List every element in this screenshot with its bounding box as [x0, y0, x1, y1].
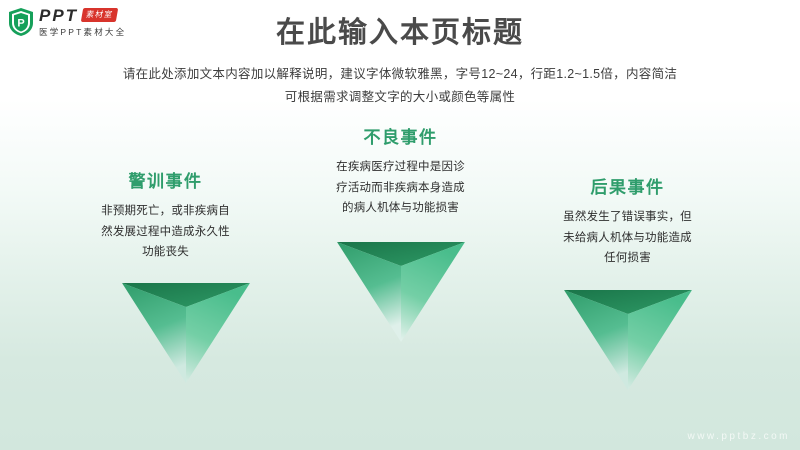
- column-1-body-line-3: 功能丧失: [58, 242, 273, 262]
- content-column-3: 后果事件 虽然发生了错误事实，但 未给病人机体与功能造成 任何损害: [520, 178, 735, 268]
- column-2-body-line-1: 在疾病医疗过程中是因诊: [293, 157, 508, 177]
- inverted-pyramid-1: [122, 281, 250, 383]
- content-column-1: 警训事件 非预期死亡，或非疾病自 然发展过程中造成永久性 功能丧失: [58, 172, 273, 262]
- column-3-heading: 后果事件: [520, 178, 735, 198]
- column-3-body-line-1: 虽然发生了错误事实，但: [520, 207, 735, 227]
- column-3-body-line-3: 任何损害: [520, 248, 735, 268]
- footer-watermark: www.pptbz.com: [687, 431, 790, 442]
- column-1-body: 非预期死亡，或非疾病自 然发展过程中造成永久性 功能丧失: [58, 201, 273, 261]
- column-3-body-line-2: 未给病人机体与功能造成: [520, 228, 735, 248]
- column-2-body-line-2: 疗活动而非疾病本身造成: [293, 178, 508, 198]
- page-subtitle: 请在此处添加文本内容加以解释说明，建议字体微软雅黑，字号12~24，行距1.2~…: [0, 63, 800, 109]
- column-1-heading: 警训事件: [58, 172, 273, 192]
- slide-canvas: P PPT 素材室 医学PPT素材大全 在此输入本页标题 请在此处添加文本内容加…: [0, 0, 800, 450]
- inverted-pyramid-3: [564, 288, 692, 390]
- column-2-body-line-3: 的病人机体与功能损害: [293, 198, 508, 218]
- inverted-pyramid-2: [337, 240, 465, 342]
- page-title: 在此输入本页标题: [0, 16, 800, 51]
- column-2-body: 在疾病医疗过程中是因诊 疗活动而非疾病本身造成 的病人机体与功能损害: [293, 157, 508, 217]
- subtitle-line-2: 可根据需求调整文字的大小或颜色等属性: [0, 86, 800, 109]
- content-column-2: 不良事件 在疾病医疗过程中是因诊 疗活动而非疾病本身造成 的病人机体与功能损害: [293, 128, 508, 218]
- column-2-heading: 不良事件: [293, 128, 508, 148]
- column-3-body: 虽然发生了错误事实，但 未给病人机体与功能造成 任何损害: [520, 207, 735, 267]
- subtitle-line-1: 请在此处添加文本内容加以解释说明，建议字体微软雅黑，字号12~24，行距1.2~…: [0, 63, 800, 86]
- column-1-body-line-1: 非预期死亡，或非疾病自: [58, 201, 273, 221]
- column-1-body-line-2: 然发展过程中造成永久性: [58, 222, 273, 242]
